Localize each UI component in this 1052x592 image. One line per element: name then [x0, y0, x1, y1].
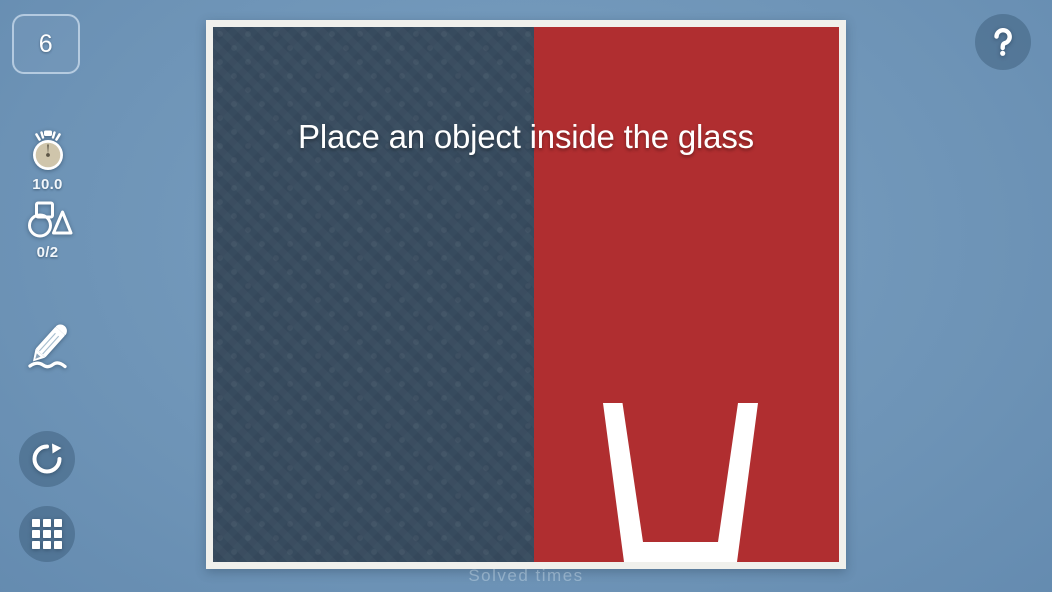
question-mark-icon	[986, 25, 1020, 59]
level-number: 6	[39, 30, 53, 59]
sidebar: 6 1	[0, 0, 95, 592]
glass	[603, 403, 758, 562]
game-screen: 6 1	[0, 0, 1052, 592]
timer-stat: 10.0	[0, 128, 95, 193]
playfield-frame: Place an object inside the glass	[206, 20, 846, 569]
playfield[interactable]: Place an object inside the glass	[213, 27, 839, 562]
panel-left	[213, 27, 534, 562]
level-badge[interactable]: 6	[12, 14, 80, 74]
shapes-stat: 0/2	[0, 200, 95, 261]
restart-button[interactable]	[19, 431, 75, 487]
shapes-value: 0/2	[37, 244, 59, 261]
solved-times-caption: Solved times	[206, 566, 846, 586]
help-button[interactable]	[975, 14, 1031, 70]
timer-value: 10.0	[32, 176, 62, 193]
shapes-icon	[23, 200, 73, 242]
prompt-text: Place an object inside the glass	[213, 118, 839, 156]
restart-icon	[30, 442, 64, 476]
pencil-draw-icon	[22, 322, 74, 374]
levels-button[interactable]	[19, 506, 75, 562]
draw-tool[interactable]	[0, 322, 95, 374]
grid-levels-icon	[32, 519, 62, 549]
stopwatch-icon	[25, 128, 71, 174]
